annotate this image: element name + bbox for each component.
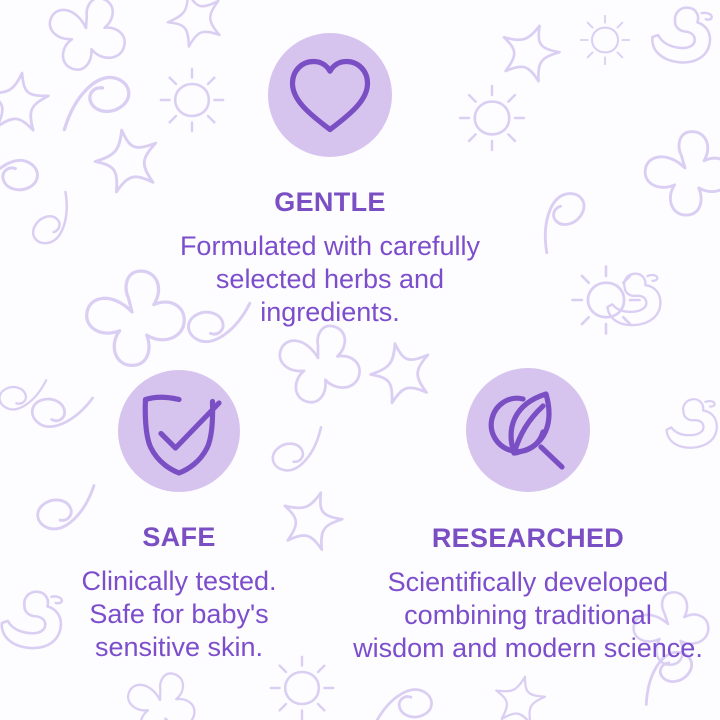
safe-icon-badge	[118, 370, 240, 492]
promo-card: GENTLE Formulated with carefully selecte…	[0, 0, 720, 720]
feature-gentle: GENTLE Formulated with carefully selecte…	[110, 33, 550, 329]
gentle-icon-badge	[268, 33, 392, 157]
feature-safe-description: Clinically tested. Safe for baby's sensi…	[6, 565, 352, 664]
feature-gentle-description: Formulated with carefully selected herbs…	[110, 230, 550, 329]
heart-icon	[268, 33, 392, 157]
feature-gentle-title: GENTLE	[110, 189, 550, 216]
feature-safe-title: SAFE	[6, 524, 352, 551]
feature-researched-description: Scientifically developed combining tradi…	[345, 566, 711, 665]
feature-researched-title: RESEARCHED	[345, 525, 711, 552]
feature-safe: SAFE Clinically tested. Safe for baby's …	[6, 370, 352, 664]
researched-icon-badge	[466, 368, 590, 492]
feature-researched: RESEARCHED Scientifically developed comb…	[345, 368, 711, 665]
leaf-magnifier-icon	[466, 368, 590, 492]
shield-check-icon	[118, 370, 240, 492]
